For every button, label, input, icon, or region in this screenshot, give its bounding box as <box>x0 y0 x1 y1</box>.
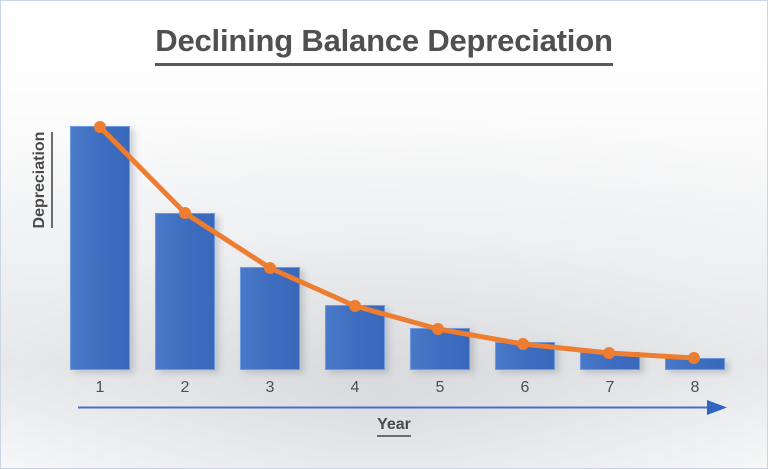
bar-year-4 <box>325 305 385 370</box>
plot-area: 12345678 <box>1 1 768 469</box>
x-tick-label-5: 5 <box>410 379 470 397</box>
x-tick-label-8: 8 <box>665 379 725 397</box>
chart-figure: Declining Balance Depreciation Depreciat… <box>0 0 768 469</box>
x-axis-title: Year <box>344 416 444 437</box>
bar-year-3 <box>240 267 300 370</box>
x-tick-label-3: 3 <box>240 379 300 397</box>
x-tick-label-1: 1 <box>70 379 130 397</box>
bar-year-2 <box>155 213 215 370</box>
x-tick-label-7: 7 <box>580 379 640 397</box>
bar-year-8 <box>665 358 725 370</box>
x-tick-label-6: 6 <box>495 379 555 397</box>
x-tick-label-4: 4 <box>325 379 385 397</box>
bar-year-5 <box>410 328 470 370</box>
bar-year-6 <box>495 342 555 370</box>
x-axis-title-text: Year <box>377 416 411 437</box>
bar-year-7 <box>580 352 640 370</box>
bar-year-1 <box>70 126 130 370</box>
x-tick-label-2: 2 <box>155 379 215 397</box>
